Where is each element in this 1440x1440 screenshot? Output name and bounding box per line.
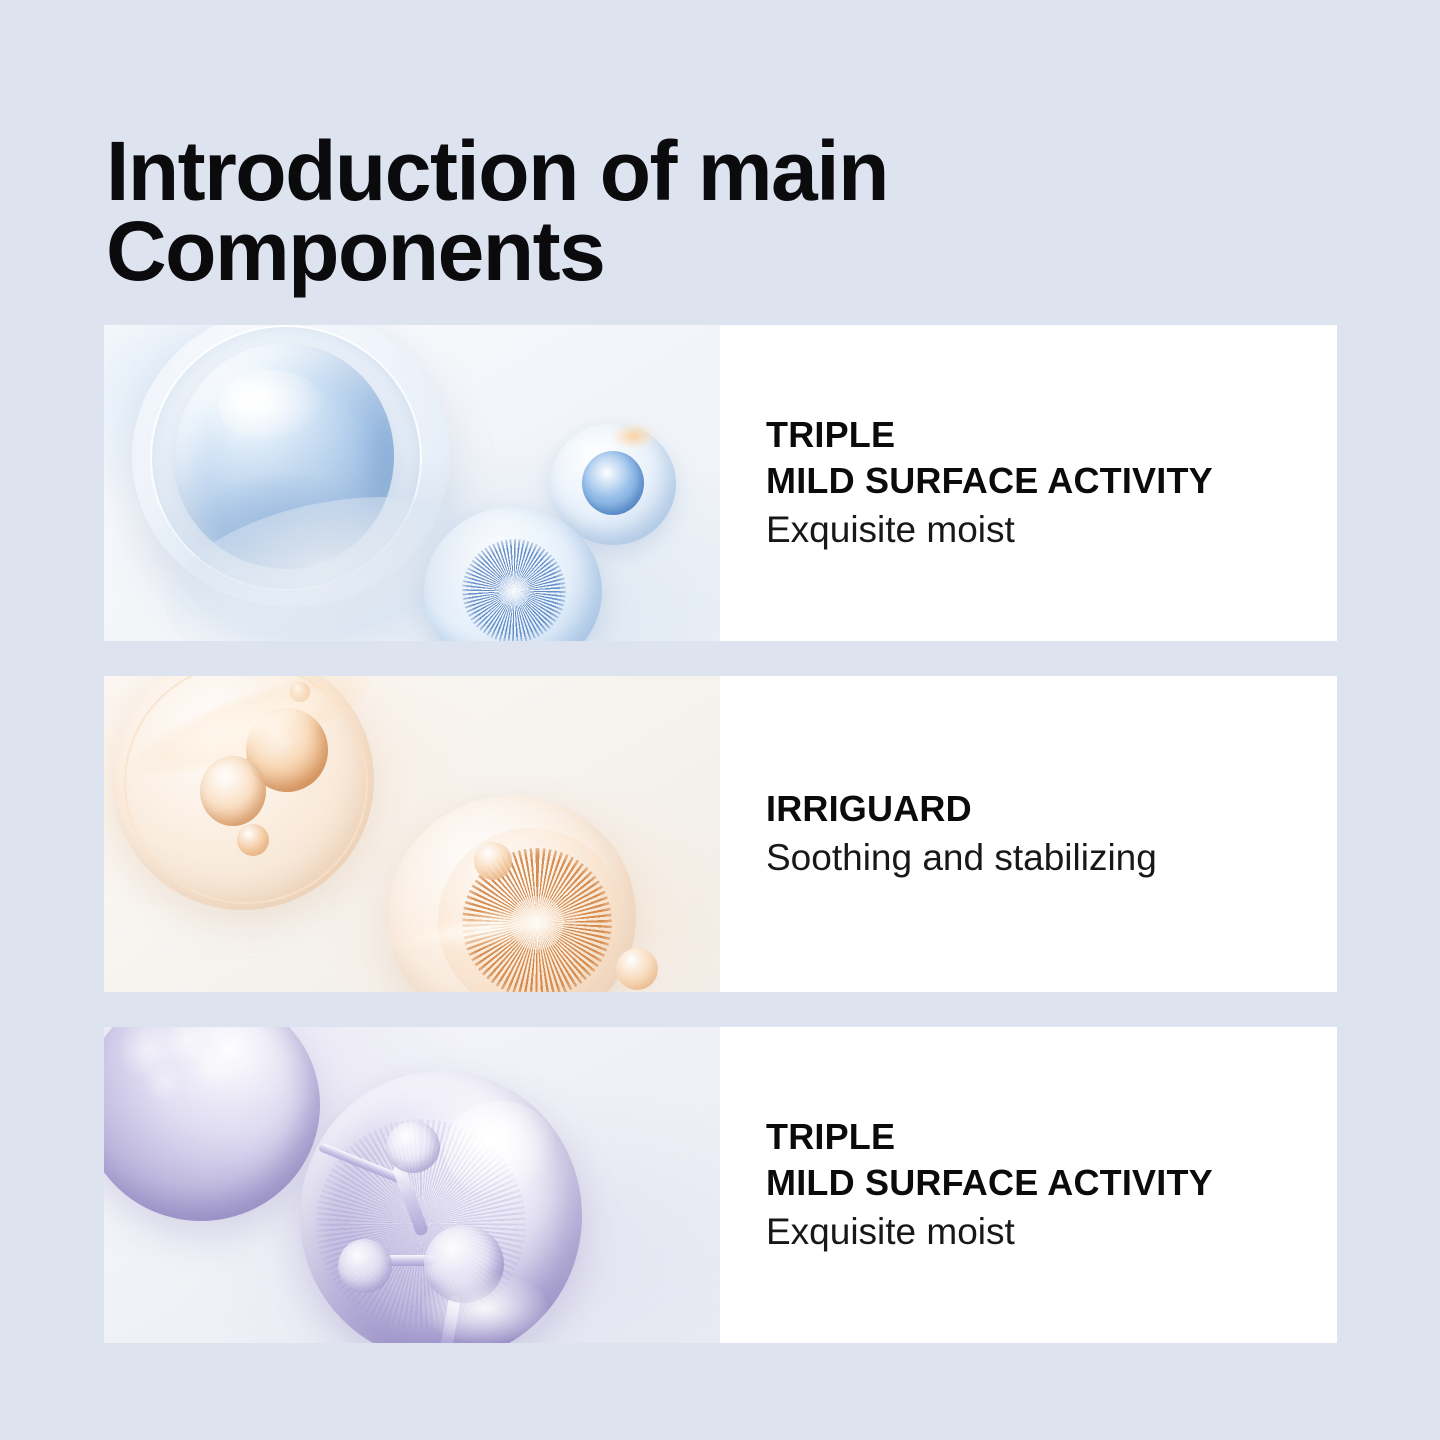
gold-droplet-upper: [474, 842, 512, 880]
blue-small-sphere-core: [582, 451, 644, 515]
purple-molecule-bubble-image: [104, 1027, 720, 1343]
component-subline: Soothing and stabilizing: [766, 834, 1337, 882]
component-card[interactable]: TRIPLE MILD SURFACE ACTIVITY Exquisite m…: [104, 325, 1337, 641]
page-title: Introduction of main Components: [106, 132, 1006, 292]
molecule-atom-left: [338, 1239, 392, 1293]
blue-small-sphere: [550, 423, 676, 545]
blue-serum-bubbles-image: [104, 325, 720, 641]
component-headline: IRRIGUARD: [766, 786, 1337, 832]
component-subline: Exquisite moist: [766, 506, 1337, 554]
blue-large-sphere: [174, 343, 394, 569]
gold-bubble-small: [237, 824, 269, 856]
component-headline: MILD SURFACE ACTIVITY: [766, 458, 1337, 504]
component-card-text: IRRIGUARD Soothing and stabilizing: [720, 676, 1337, 992]
component-card[interactable]: IRRIGUARD Soothing and stabilizing: [104, 676, 1337, 992]
blue-burst-rays: [462, 539, 566, 641]
component-card-text: TRIPLE MILD SURFACE ACTIVITY Exquisite m…: [720, 325, 1337, 641]
molecule-atom-top: [386, 1121, 440, 1173]
gold-droplet-lower: [616, 948, 658, 990]
component-headline: MILD SURFACE ACTIVITY: [766, 1160, 1337, 1206]
component-card-text: TRIPLE MILD SURFACE ACTIVITY Exquisite m…: [720, 1027, 1337, 1343]
purple-highlight-upper: [444, 1101, 556, 1197]
blue-small-sphere-flare: [612, 423, 656, 449]
blue-burst-core: [498, 575, 530, 607]
component-eyebrow: TRIPLE: [766, 1114, 1337, 1160]
component-subline: Exquisite moist: [766, 1208, 1337, 1256]
component-eyebrow: TRIPLE: [766, 412, 1337, 458]
blue-sphere-halo: [132, 325, 450, 607]
blue-burst-sphere: [424, 507, 602, 641]
blue-sphere-ring: [150, 325, 422, 591]
component-card[interactable]: TRIPLE MILD SURFACE ACTIVITY Exquisite m…: [104, 1027, 1337, 1343]
purple-highlight-lower: [422, 1273, 548, 1343]
gold-serum-bubbles-image: [104, 676, 720, 992]
blue-swirl-highlight: [150, 470, 504, 641]
media-sheen-overlay: [104, 325, 720, 641]
component-card-list: TRIPLE MILD SURFACE ACTIVITY Exquisite m…: [104, 325, 1337, 1343]
